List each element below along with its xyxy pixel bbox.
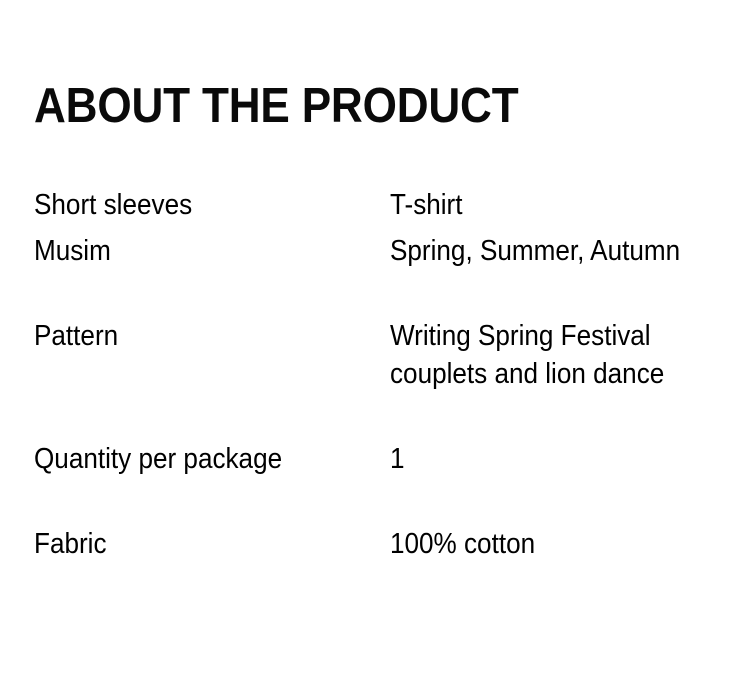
spec-row: Fabric 100% cotton xyxy=(34,525,714,563)
spec-label: Musim xyxy=(34,232,354,270)
page-title: ABOUT THE PRODUCT xyxy=(34,80,518,132)
spec-row: Short sleeves T-shirt xyxy=(34,186,714,224)
spec-label: Fabric xyxy=(34,525,354,563)
spec-value: Spring, Summer, Autumn xyxy=(390,232,682,270)
spec-value: T-shirt xyxy=(390,186,682,224)
product-spec-list: Short sleeves T-shirt Musim Spring, Summ… xyxy=(34,186,714,563)
spec-row: Quantity per package 1 xyxy=(34,440,714,478)
spec-label: Short sleeves xyxy=(34,186,354,224)
spec-value: 1 xyxy=(390,440,682,478)
spec-value: 100% cotton xyxy=(390,525,682,563)
spec-row: Pattern Writing Spring Festival couplets… xyxy=(34,317,714,393)
spec-row: Musim Spring, Summer, Autumn xyxy=(34,232,714,270)
spec-label: Pattern xyxy=(34,317,354,355)
spec-label: Quantity per package xyxy=(34,440,354,478)
spec-value: Writing Spring Festival couplets and lio… xyxy=(390,317,682,393)
product-description-page: ABOUT THE PRODUCT Short sleeves T-shirt … xyxy=(0,0,750,675)
